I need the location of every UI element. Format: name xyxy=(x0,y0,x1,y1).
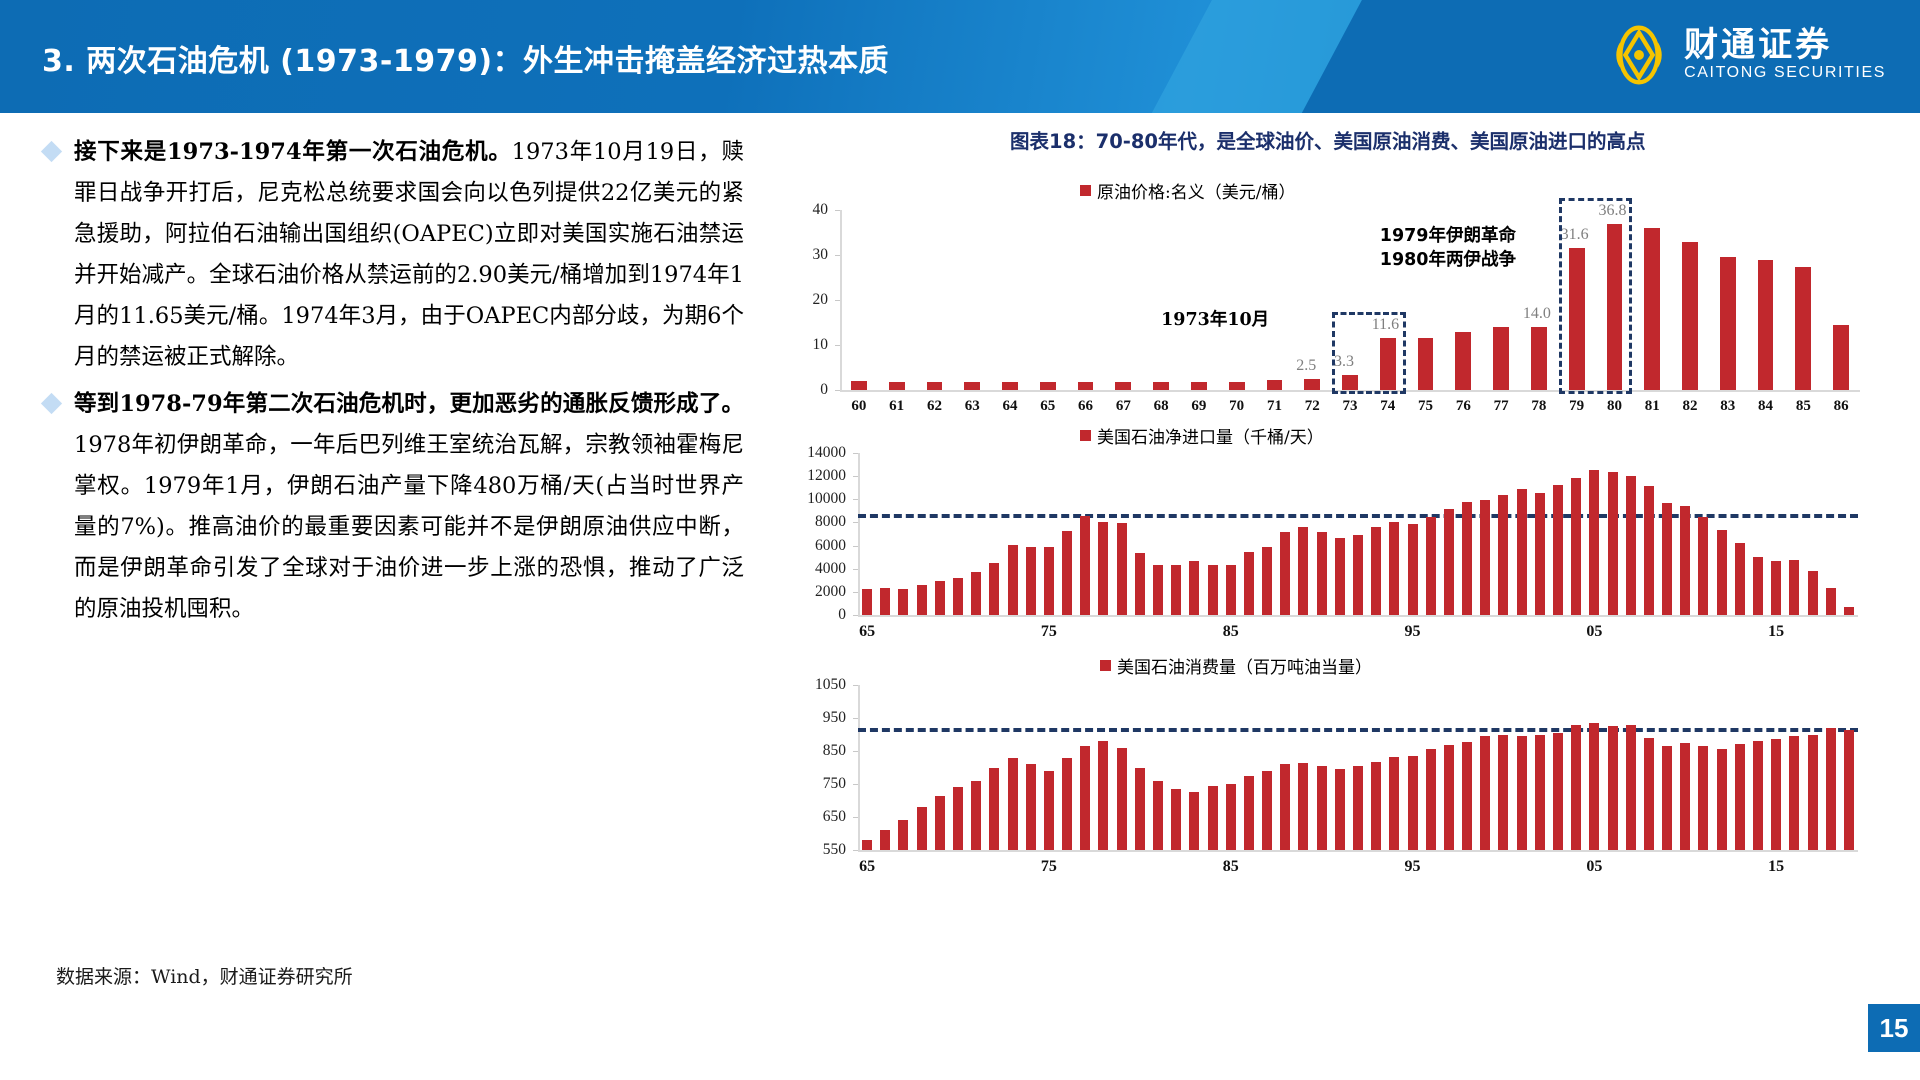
x-axis-tick-label: 95 xyxy=(1405,623,1421,641)
bar xyxy=(1208,565,1218,615)
bar xyxy=(1171,789,1181,850)
x-axis-tick-label: 63 xyxy=(965,398,980,415)
bar xyxy=(1680,743,1690,850)
bar xyxy=(1698,746,1708,850)
figure-column: 图表18：70-80年代，是全球油价、美国原油消费、美国原油进口的高点 原油价格… xyxy=(760,125,1890,1025)
y-axis-tick-label: 2000 xyxy=(815,583,846,601)
bar xyxy=(1208,786,1218,850)
bar xyxy=(1462,742,1472,850)
bar xyxy=(1353,766,1363,850)
y-axis-tickmark xyxy=(853,546,858,547)
bar xyxy=(1335,769,1345,850)
y-axis-tickmark xyxy=(853,615,858,616)
y-axis-tickmark xyxy=(835,255,840,256)
bar xyxy=(964,382,980,390)
bar xyxy=(889,382,905,390)
y-axis-tickmark xyxy=(853,850,858,851)
x-axis-tick-label: 85 xyxy=(1223,858,1239,876)
bar xyxy=(1589,470,1599,615)
y-axis-tick-label: 650 xyxy=(823,808,846,826)
bar xyxy=(1226,565,1236,615)
bar xyxy=(953,578,963,615)
bar xyxy=(1480,736,1490,850)
legend-swatch-icon xyxy=(1080,430,1091,441)
y-axis-tick-label: 550 xyxy=(823,841,846,859)
y-axis-tickmark xyxy=(853,718,858,719)
x-axis-tick-label: 84 xyxy=(1758,398,1773,415)
bar xyxy=(1626,725,1636,850)
bar xyxy=(971,781,981,850)
chart-net-imports: 美国石油净进口量（千桶/天） 0200040006000800010000120… xyxy=(760,415,1890,670)
bar xyxy=(862,840,872,850)
slide-header: 3. 两次石油危机 (1973-1979)：外生冲击掩盖经济过热本质 财通证券 … xyxy=(0,0,1920,113)
bar xyxy=(1571,478,1581,615)
reference-line xyxy=(858,728,1858,732)
chart1-legend: 原油价格:名义（美元/桶） xyxy=(1080,178,1295,203)
bar xyxy=(880,830,890,850)
x-axis-tick-label: 62 xyxy=(927,398,942,415)
bar xyxy=(1644,228,1660,390)
bar xyxy=(1229,382,1245,390)
page-number-badge: 15 xyxy=(1868,1004,1920,1052)
bullet-rest: 1978年初伊朗革命，一年后巴列维王室统治瓦解，宗教领袖霍梅尼掌权。1979年1… xyxy=(74,432,744,622)
y-axis-tickmark xyxy=(853,499,858,500)
chart-oil-price: 原油价格:名义（美元/桶） 01020304060616263646566676… xyxy=(760,160,1890,425)
x-axis-tick-label: 79 xyxy=(1569,398,1584,415)
x-axis-tick-label: 15 xyxy=(1768,623,1784,641)
y-axis-tick-label: 30 xyxy=(813,246,829,264)
bar xyxy=(898,820,908,850)
highlight-box xyxy=(1332,312,1406,394)
bar xyxy=(1040,382,1056,390)
bar xyxy=(1044,771,1054,850)
bar xyxy=(1426,749,1436,850)
bullet-marker xyxy=(44,384,74,630)
logo-text-cn: 财通证券 xyxy=(1684,28,1886,64)
bar xyxy=(917,807,927,850)
bar xyxy=(851,381,867,390)
bar xyxy=(1535,735,1545,851)
y-axis-tickmark xyxy=(835,345,840,346)
bar xyxy=(1662,746,1672,850)
x-axis-tick-label: 83 xyxy=(1720,398,1735,415)
bar xyxy=(1608,472,1618,615)
bar xyxy=(1008,758,1018,850)
bar xyxy=(1418,338,1434,390)
bar xyxy=(1644,738,1654,850)
y-axis-tick-label: 40 xyxy=(813,201,829,219)
y-axis-tick-label: 20 xyxy=(813,291,829,309)
y-axis-tickmark xyxy=(853,569,858,570)
y-axis-tick-label: 850 xyxy=(823,742,846,760)
bar xyxy=(1789,736,1799,850)
bar xyxy=(1789,560,1799,615)
bullet-lead: 等到1978-79年第二次石油危机时，更加恶劣的通胀反馈形成了。 xyxy=(74,391,744,417)
y-axis-tickmark xyxy=(853,453,858,454)
bar xyxy=(1098,741,1108,850)
bullet-item: 接下来是1973-1974年第一次石油危机。1973年10月19日，赎罪日战争开… xyxy=(44,132,744,378)
y-axis-tickmark xyxy=(853,522,858,523)
y-axis-tick-label: 0 xyxy=(838,606,846,624)
brand-logo: 财通证券 CAITONG SECURITIES xyxy=(1608,24,1886,86)
x-axis-tick-label: 73 xyxy=(1343,398,1358,415)
x-axis-tick-label: 72 xyxy=(1305,398,1320,415)
caitong-logo-icon xyxy=(1608,24,1670,86)
bar xyxy=(1026,547,1036,615)
bar xyxy=(1444,509,1454,615)
bar xyxy=(989,768,999,851)
bar xyxy=(1535,493,1545,615)
bar xyxy=(1408,756,1418,850)
bar xyxy=(1553,733,1563,850)
bar xyxy=(1608,726,1618,850)
bar xyxy=(1189,561,1199,615)
bar xyxy=(1267,380,1283,390)
bullet-marker xyxy=(44,132,74,378)
y-axis-tickmark xyxy=(835,210,840,211)
bar xyxy=(1117,523,1127,615)
bar xyxy=(1189,792,1199,850)
highlight-box xyxy=(1559,198,1633,394)
x-axis-tick-label: 70 xyxy=(1229,398,1244,415)
x-axis-tick-label: 95 xyxy=(1405,858,1421,876)
x-axis-tick-label: 78 xyxy=(1531,398,1546,415)
bar xyxy=(1153,565,1163,615)
bar xyxy=(1771,739,1781,850)
bar xyxy=(1826,728,1836,850)
bar xyxy=(1080,516,1090,615)
legend-swatch-icon xyxy=(1080,185,1091,196)
y-axis-tickmark xyxy=(853,817,858,818)
bar xyxy=(1135,768,1145,851)
bar xyxy=(1662,503,1672,615)
x-axis-tick-label: 65 xyxy=(1040,398,1055,415)
bar xyxy=(1226,784,1236,850)
bar-data-label: 2.5 xyxy=(1296,357,1316,375)
x-axis-tick-label: 86 xyxy=(1834,398,1849,415)
chart1-plot-area: 0102030406061626364656667686970717273747… xyxy=(840,210,1860,390)
legend-swatch-icon xyxy=(1100,660,1111,671)
y-axis-tickmark xyxy=(853,751,858,752)
bar xyxy=(1280,532,1290,615)
bullet-paragraph: 接下来是1973-1974年第一次石油危机。1973年10月19日，赎罪日战争开… xyxy=(74,132,744,378)
bar xyxy=(1062,758,1072,850)
y-axis-tickmark xyxy=(835,390,840,391)
x-axis-tick-label: 85 xyxy=(1223,623,1239,641)
bar xyxy=(1833,325,1849,390)
bar xyxy=(1735,543,1745,615)
bar xyxy=(1626,476,1636,615)
bar xyxy=(1680,506,1690,615)
x-axis-tick-label: 80 xyxy=(1607,398,1622,415)
bar xyxy=(1304,379,1320,390)
y-axis-tick-label: 1050 xyxy=(815,676,846,694)
chart2-legend: 美国石油净进口量（千桶/天） xyxy=(1080,423,1324,448)
x-axis-tick-label: 85 xyxy=(1796,398,1811,415)
x-axis-line xyxy=(858,615,1858,617)
bar xyxy=(1244,776,1254,850)
bar xyxy=(1644,486,1654,615)
chart3-plot-area: 5506507508509501050657585950515 xyxy=(858,685,1858,850)
bar xyxy=(1720,257,1736,390)
bar xyxy=(1335,538,1345,615)
bar xyxy=(1717,530,1727,616)
chart3-legend: 美国石油消费量（百万吨油当量） xyxy=(1100,653,1372,678)
bar xyxy=(1244,552,1254,615)
x-axis-tick-label: 81 xyxy=(1645,398,1660,415)
bar xyxy=(1117,748,1127,850)
bar xyxy=(1298,527,1308,615)
bar xyxy=(862,589,872,615)
bar xyxy=(927,382,943,390)
bar xyxy=(935,796,945,850)
bar xyxy=(1078,382,1094,390)
bar xyxy=(1444,745,1454,850)
bar xyxy=(1262,771,1272,850)
legend-label: 美国石油消费量（百万吨油当量） xyxy=(1117,653,1372,678)
bar xyxy=(1280,764,1290,850)
bullet-lead: 接下来是1973-1974年第一次石油危机。 xyxy=(74,139,512,165)
bar xyxy=(1062,531,1072,615)
bar xyxy=(971,572,981,615)
bar xyxy=(1808,571,1818,615)
bar xyxy=(1771,561,1781,616)
chart-oil-consumption: 美国石油消费量（百万吨油当量） 550650750850950105065758… xyxy=(760,645,1890,905)
y-axis-tickmark xyxy=(853,685,858,686)
bullet-paragraph: 等到1978-79年第二次石油危机时，更加恶劣的通胀反馈形成了。1978年初伊朗… xyxy=(74,384,744,630)
y-axis-tick-label: 14000 xyxy=(807,444,846,462)
y-axis-tickmark xyxy=(853,476,858,477)
x-axis-tick-label: 74 xyxy=(1380,398,1395,415)
bar xyxy=(1480,500,1490,615)
legend-label: 原油价格:名义（美元/桶） xyxy=(1097,178,1295,203)
bar xyxy=(1153,382,1169,390)
bullet-item: 等到1978-79年第二次石油危机时，更加恶劣的通胀反馈形成了。1978年初伊朗… xyxy=(44,384,744,630)
bar xyxy=(1080,746,1090,850)
bar xyxy=(1589,723,1599,850)
y-axis-line xyxy=(858,453,860,615)
bar xyxy=(1844,730,1854,850)
bar xyxy=(1571,725,1581,850)
bar xyxy=(1698,517,1708,615)
y-axis-tick-label: 8000 xyxy=(815,513,846,531)
x-axis-tick-label: 82 xyxy=(1683,398,1698,415)
bar xyxy=(1317,532,1327,615)
x-axis-tick-label: 60 xyxy=(851,398,866,415)
x-axis-tick-label: 71 xyxy=(1267,398,1282,415)
x-axis-tick-label: 67 xyxy=(1116,398,1131,415)
bar xyxy=(1262,547,1272,615)
bar xyxy=(1462,502,1472,615)
x-axis-tick-label: 05 xyxy=(1586,623,1602,641)
bar xyxy=(1498,735,1508,851)
y-axis-tick-label: 10 xyxy=(813,336,829,354)
bar xyxy=(1735,744,1745,850)
annotation-line-1: 1979年伊朗革命 xyxy=(1380,224,1516,248)
source-note: 数据来源：Wind，财通证券研究所 xyxy=(56,962,353,989)
x-axis-tick-label: 65 xyxy=(859,858,875,876)
bar xyxy=(1717,749,1727,850)
x-axis-tick-label: 15 xyxy=(1768,858,1784,876)
y-axis-tickmark xyxy=(835,300,840,301)
y-axis-tick-label: 0 xyxy=(820,381,828,399)
bar xyxy=(1389,522,1399,615)
x-axis-tick-label: 66 xyxy=(1078,398,1093,415)
bar xyxy=(1844,607,1854,615)
chart2-plot-area: 0200040006000800010000120001400065758595… xyxy=(858,453,1858,615)
annotation-line-2: 1980年两伊战争 xyxy=(1380,248,1516,272)
bar xyxy=(1002,382,1018,390)
y-axis-line xyxy=(858,685,860,850)
logo-text-en: CAITONG SECURITIES xyxy=(1684,63,1886,82)
x-axis-tick-label: 68 xyxy=(1154,398,1169,415)
annotation-1973-oct: 1973年10月 xyxy=(1161,308,1269,332)
bar xyxy=(1135,553,1145,615)
bar xyxy=(1098,522,1108,615)
diamond-icon xyxy=(41,393,62,414)
bar xyxy=(1553,485,1563,615)
bar xyxy=(1317,766,1327,850)
y-axis-tick-label: 10000 xyxy=(807,490,846,508)
bar xyxy=(1408,524,1418,615)
bar xyxy=(1191,382,1207,390)
bar xyxy=(1808,735,1818,851)
slide-root: 3. 两次石油危机 (1973-1979)：外生冲击掩盖经济过热本质 财通证券 … xyxy=(0,0,1920,1080)
x-axis-tick-label: 75 xyxy=(1418,398,1433,415)
y-axis-tick-label: 4000 xyxy=(815,560,846,578)
y-axis-tickmark xyxy=(853,784,858,785)
x-axis-tick-label: 61 xyxy=(889,398,904,415)
bar xyxy=(1153,781,1163,850)
y-axis-tick-label: 950 xyxy=(823,709,846,727)
bar xyxy=(1389,757,1399,850)
figure-title: 图表18：70-80年代，是全球油价、美国原油消费、美国原油进口的高点 xyxy=(1010,125,1646,154)
bar xyxy=(1826,588,1836,615)
bar xyxy=(1371,762,1381,850)
legend-label: 美国石油净进口量（千桶/天） xyxy=(1097,423,1324,448)
bar xyxy=(1115,382,1131,390)
bar xyxy=(1353,535,1363,615)
bar xyxy=(1753,557,1763,615)
bar xyxy=(880,588,890,615)
body-text-column: 接下来是1973-1974年第一次石油危机。1973年10月19日，赎罪日战争开… xyxy=(44,132,744,636)
x-axis-tick-label: 77 xyxy=(1494,398,1509,415)
bar xyxy=(1682,242,1698,390)
bar xyxy=(1044,547,1054,615)
bar xyxy=(1008,545,1018,615)
bar xyxy=(953,787,963,850)
bar xyxy=(1758,260,1774,390)
page-title: 3. 两次石油危机 (1973-1979)：外生冲击掩盖经济过热本质 xyxy=(42,36,889,80)
bar xyxy=(1455,332,1471,390)
bar xyxy=(917,585,927,615)
bar xyxy=(1517,489,1527,615)
y-axis-tick-label: 750 xyxy=(823,775,846,793)
x-axis-tick-label: 76 xyxy=(1456,398,1471,415)
diamond-icon xyxy=(41,141,62,162)
bar xyxy=(1498,495,1508,615)
bar xyxy=(1531,327,1547,390)
bar xyxy=(1795,267,1811,390)
y-axis-line xyxy=(840,210,842,390)
x-axis-tick-label: 75 xyxy=(1041,858,1057,876)
bar xyxy=(1371,527,1381,615)
bar xyxy=(1426,517,1436,615)
annotation-iran-iraq: 1979年伊朗革命1980年两伊战争 xyxy=(1380,224,1516,272)
bullet-rest: 1973年10月19日，赎罪日战争开打后，尼克松总统要求国会向以色列提供22亿美… xyxy=(74,139,744,370)
y-axis-tick-label: 12000 xyxy=(807,467,846,485)
bar xyxy=(1517,736,1527,850)
bar xyxy=(1493,327,1509,390)
x-axis-tick-label: 69 xyxy=(1191,398,1206,415)
x-axis-tick-label: 05 xyxy=(1586,858,1602,876)
bar xyxy=(1026,764,1036,850)
bar xyxy=(1171,565,1181,615)
bar xyxy=(898,589,908,615)
y-axis-tick-label: 6000 xyxy=(815,537,846,555)
bar xyxy=(935,581,945,615)
bar xyxy=(1753,741,1763,850)
x-axis-tick-label: 64 xyxy=(1003,398,1018,415)
bar xyxy=(989,563,999,615)
x-axis-line xyxy=(858,850,1858,852)
y-axis-tickmark xyxy=(853,592,858,593)
bar xyxy=(1298,763,1308,850)
x-axis-tick-label: 65 xyxy=(859,623,875,641)
x-axis-tick-label: 75 xyxy=(1041,623,1057,641)
bar-data-label: 14.0 xyxy=(1523,305,1551,323)
